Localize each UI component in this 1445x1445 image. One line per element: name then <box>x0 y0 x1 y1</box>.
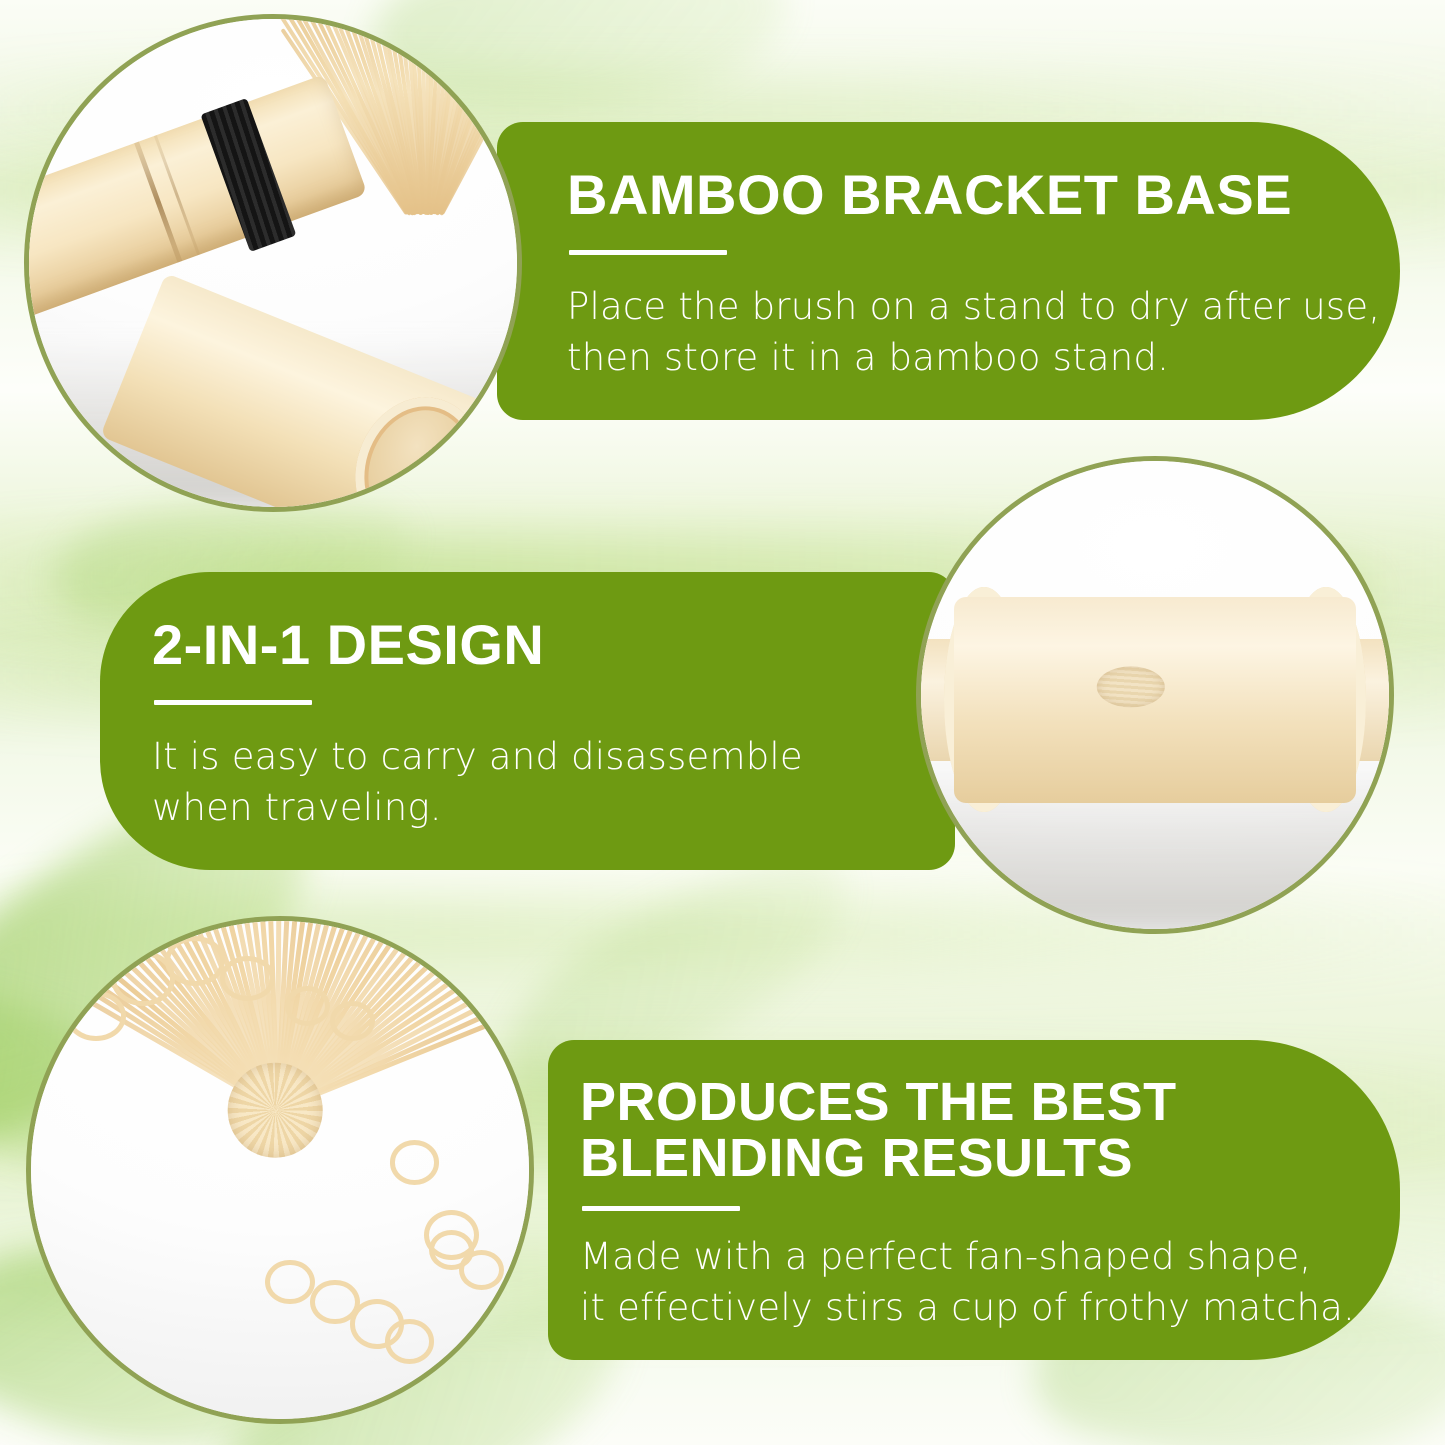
whisk-tine-curl <box>459 1250 504 1290</box>
panel-body-text: It is easy to carry and disassemble when… <box>152 731 955 833</box>
whisk-tine-curl <box>390 1140 440 1185</box>
panel-body-text: Made with a perfect fan-shaped shape, it… <box>580 1231 1400 1333</box>
panel-divider <box>154 700 312 705</box>
panel-divider <box>582 1206 740 1211</box>
photo-content <box>29 19 517 507</box>
photo-content <box>31 921 529 1419</box>
feature-panel-two-in-one-design: 2-IN-1 DESIGN It is easy to carry and di… <box>100 572 955 870</box>
whisk-tine-curl <box>66 991 126 1041</box>
bamboo-stand-closeup-photo <box>916 456 1394 934</box>
bamboo-tube-opening <box>337 380 503 507</box>
panel-heading: 2-IN-1 DESIGN <box>152 616 955 674</box>
whisk-tine-curl <box>165 936 225 986</box>
bamboo-tube-interior <box>353 397 486 507</box>
feature-panel-bamboo-bracket-base: BAMBOO BRACKET BASE Place the brush on a… <box>497 122 1400 420</box>
bamboo-node-line <box>134 142 182 263</box>
feature-panel-best-blending-results: PRODUCES THE BEST BLENDING RESULTS Made … <box>548 1040 1400 1360</box>
whisk-knot-center <box>228 1063 323 1158</box>
carved-oval-detail <box>1097 667 1165 708</box>
panel-body-text: Place the brush on a stand to dry after … <box>567 281 1400 383</box>
whisk-tine-curl <box>385 1319 435 1364</box>
whisk-tines-group <box>31 921 529 1419</box>
panel-divider <box>569 250 727 255</box>
bamboo-stand-body <box>954 597 1356 803</box>
photo-content <box>921 461 1389 929</box>
whisk-tine-curl <box>285 986 330 1026</box>
whisk-tine-curl <box>330 1001 375 1041</box>
whisk-tine-curl <box>265 1260 315 1305</box>
whisk-on-bamboo-stand-photo <box>24 14 522 512</box>
bamboo-node-line <box>154 135 200 255</box>
whisk-tines-closeup-photo <box>26 916 534 1424</box>
panel-heading: PRODUCES THE BEST BLENDING RESULTS <box>580 1074 1400 1186</box>
panel-heading: BAMBOO BRACKET BASE <box>567 166 1400 224</box>
whisk-tine-curl <box>220 956 275 1001</box>
product-feature-infographic: BAMBOO BRACKET BASE Place the brush on a… <box>0 0 1445 1445</box>
